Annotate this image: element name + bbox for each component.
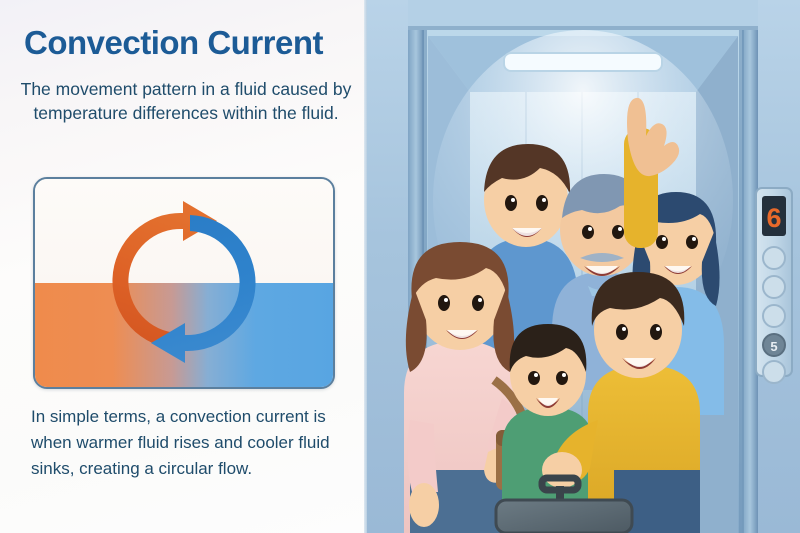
elevator-control-panel: 6 5 xyxy=(756,188,792,383)
panel-divider xyxy=(364,0,367,533)
convection-arrows xyxy=(35,179,333,387)
elevator-button-2 xyxy=(763,276,785,298)
definition-subtitle: The movement pattern in a fluid caused b… xyxy=(18,78,354,126)
elevator-button-5 xyxy=(763,361,785,383)
ceiling-light-panel xyxy=(504,53,662,71)
elevator-button-3 xyxy=(763,305,785,327)
floor-display-value: 6 xyxy=(766,203,781,233)
svg-text:5: 5 xyxy=(770,339,777,354)
elevator-scene: 6 5 xyxy=(366,0,800,533)
cool-sinking-arrow xyxy=(151,215,256,363)
page-title: Convection Current xyxy=(24,26,354,61)
slide-canvas: Convection Current The movement pattern … xyxy=(0,0,800,533)
illustration-panel: 6 5 xyxy=(366,0,800,533)
elevator-button-1 xyxy=(763,247,785,269)
convection-loop-diagram xyxy=(33,177,335,389)
explanation-paragraph: In simple terms, a convection current is… xyxy=(31,404,357,481)
left-text-panel: Convection Current The movement pattern … xyxy=(0,0,366,533)
